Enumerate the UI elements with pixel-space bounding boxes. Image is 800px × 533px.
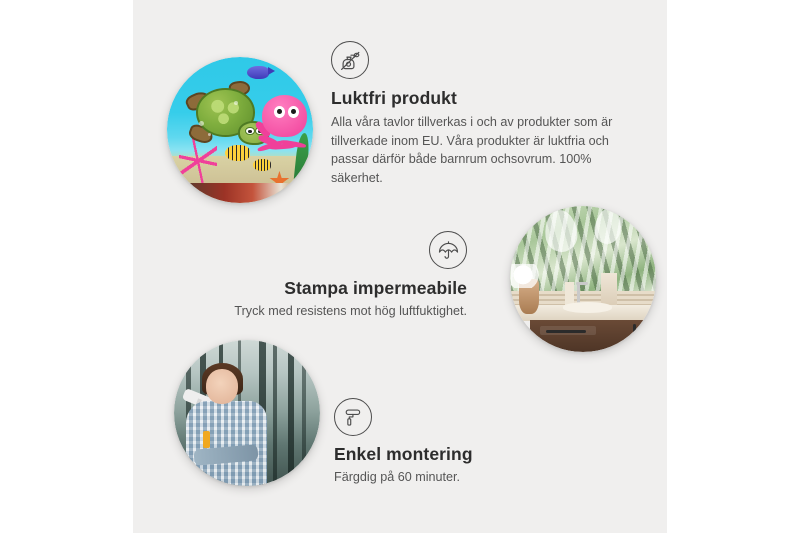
sink-shape	[563, 302, 613, 312]
photo-underwater-kids-scene	[167, 57, 313, 203]
octopus-eye	[274, 106, 286, 118]
feature-description: Alla våra tavlor tillverkas i och av pro…	[331, 113, 631, 187]
feature-block-luktfri-produkt: Luktfri produkt Alla våra tavlor tillver…	[331, 41, 631, 187]
feature-block-stampa-impermeabile: Stampa impermeabile Tryck med resistens …	[205, 231, 467, 321]
feature-title: Enkel montering	[334, 444, 614, 465]
umbrella-icon	[429, 231, 467, 269]
fish-shape	[247, 66, 269, 79]
flower-shape	[511, 264, 540, 287]
feature-title: Luktfri produkt	[331, 88, 631, 109]
cabinet-handle	[633, 324, 636, 342]
octopus-shape	[252, 95, 310, 162]
bubble-shape	[234, 101, 238, 105]
leaf-shape	[592, 206, 624, 246]
bottle-shape	[565, 282, 574, 305]
fish-shape	[225, 145, 250, 161]
paint-roller-icon	[334, 398, 372, 436]
icon-wrapper	[205, 231, 467, 269]
fish-shape	[253, 159, 271, 171]
cabinet-handle	[546, 330, 586, 333]
feature-description: Tryck med resistens mot hög luftfuktighe…	[205, 302, 467, 321]
octopus-eye	[288, 106, 300, 118]
photo-woman-inner	[174, 340, 320, 486]
paint-roller-grip	[203, 431, 210, 449]
tree-shape	[273, 340, 277, 486]
photo-bathroom-tropical-wallpaper	[510, 206, 656, 352]
octopus-head	[262, 95, 306, 137]
vanity-cabinet	[530, 320, 656, 352]
feature-description: Färgdig på 60 minuter.	[334, 468, 614, 487]
tree-shape	[288, 340, 294, 486]
feature-block-enkel-montering: Enkel montering Färgdig på 60 minuter.	[334, 398, 614, 487]
photo-bathroom-inner	[510, 206, 656, 352]
photo-woman-with-paint-roller	[174, 340, 320, 486]
tree-shape	[302, 340, 306, 486]
woman-torso	[186, 401, 268, 486]
bubble-shape	[208, 133, 211, 136]
feature-title: Stampa impermeabile	[205, 278, 467, 299]
photo-underwater-inner	[167, 57, 313, 203]
woman-face	[206, 369, 238, 404]
promo-graphic: Luktfri produkt Alla våra tavlor tillver…	[0, 0, 800, 533]
leaf-shape	[543, 208, 579, 253]
foreground-strip	[185, 183, 299, 203]
no-fragrance-icon	[331, 41, 369, 79]
